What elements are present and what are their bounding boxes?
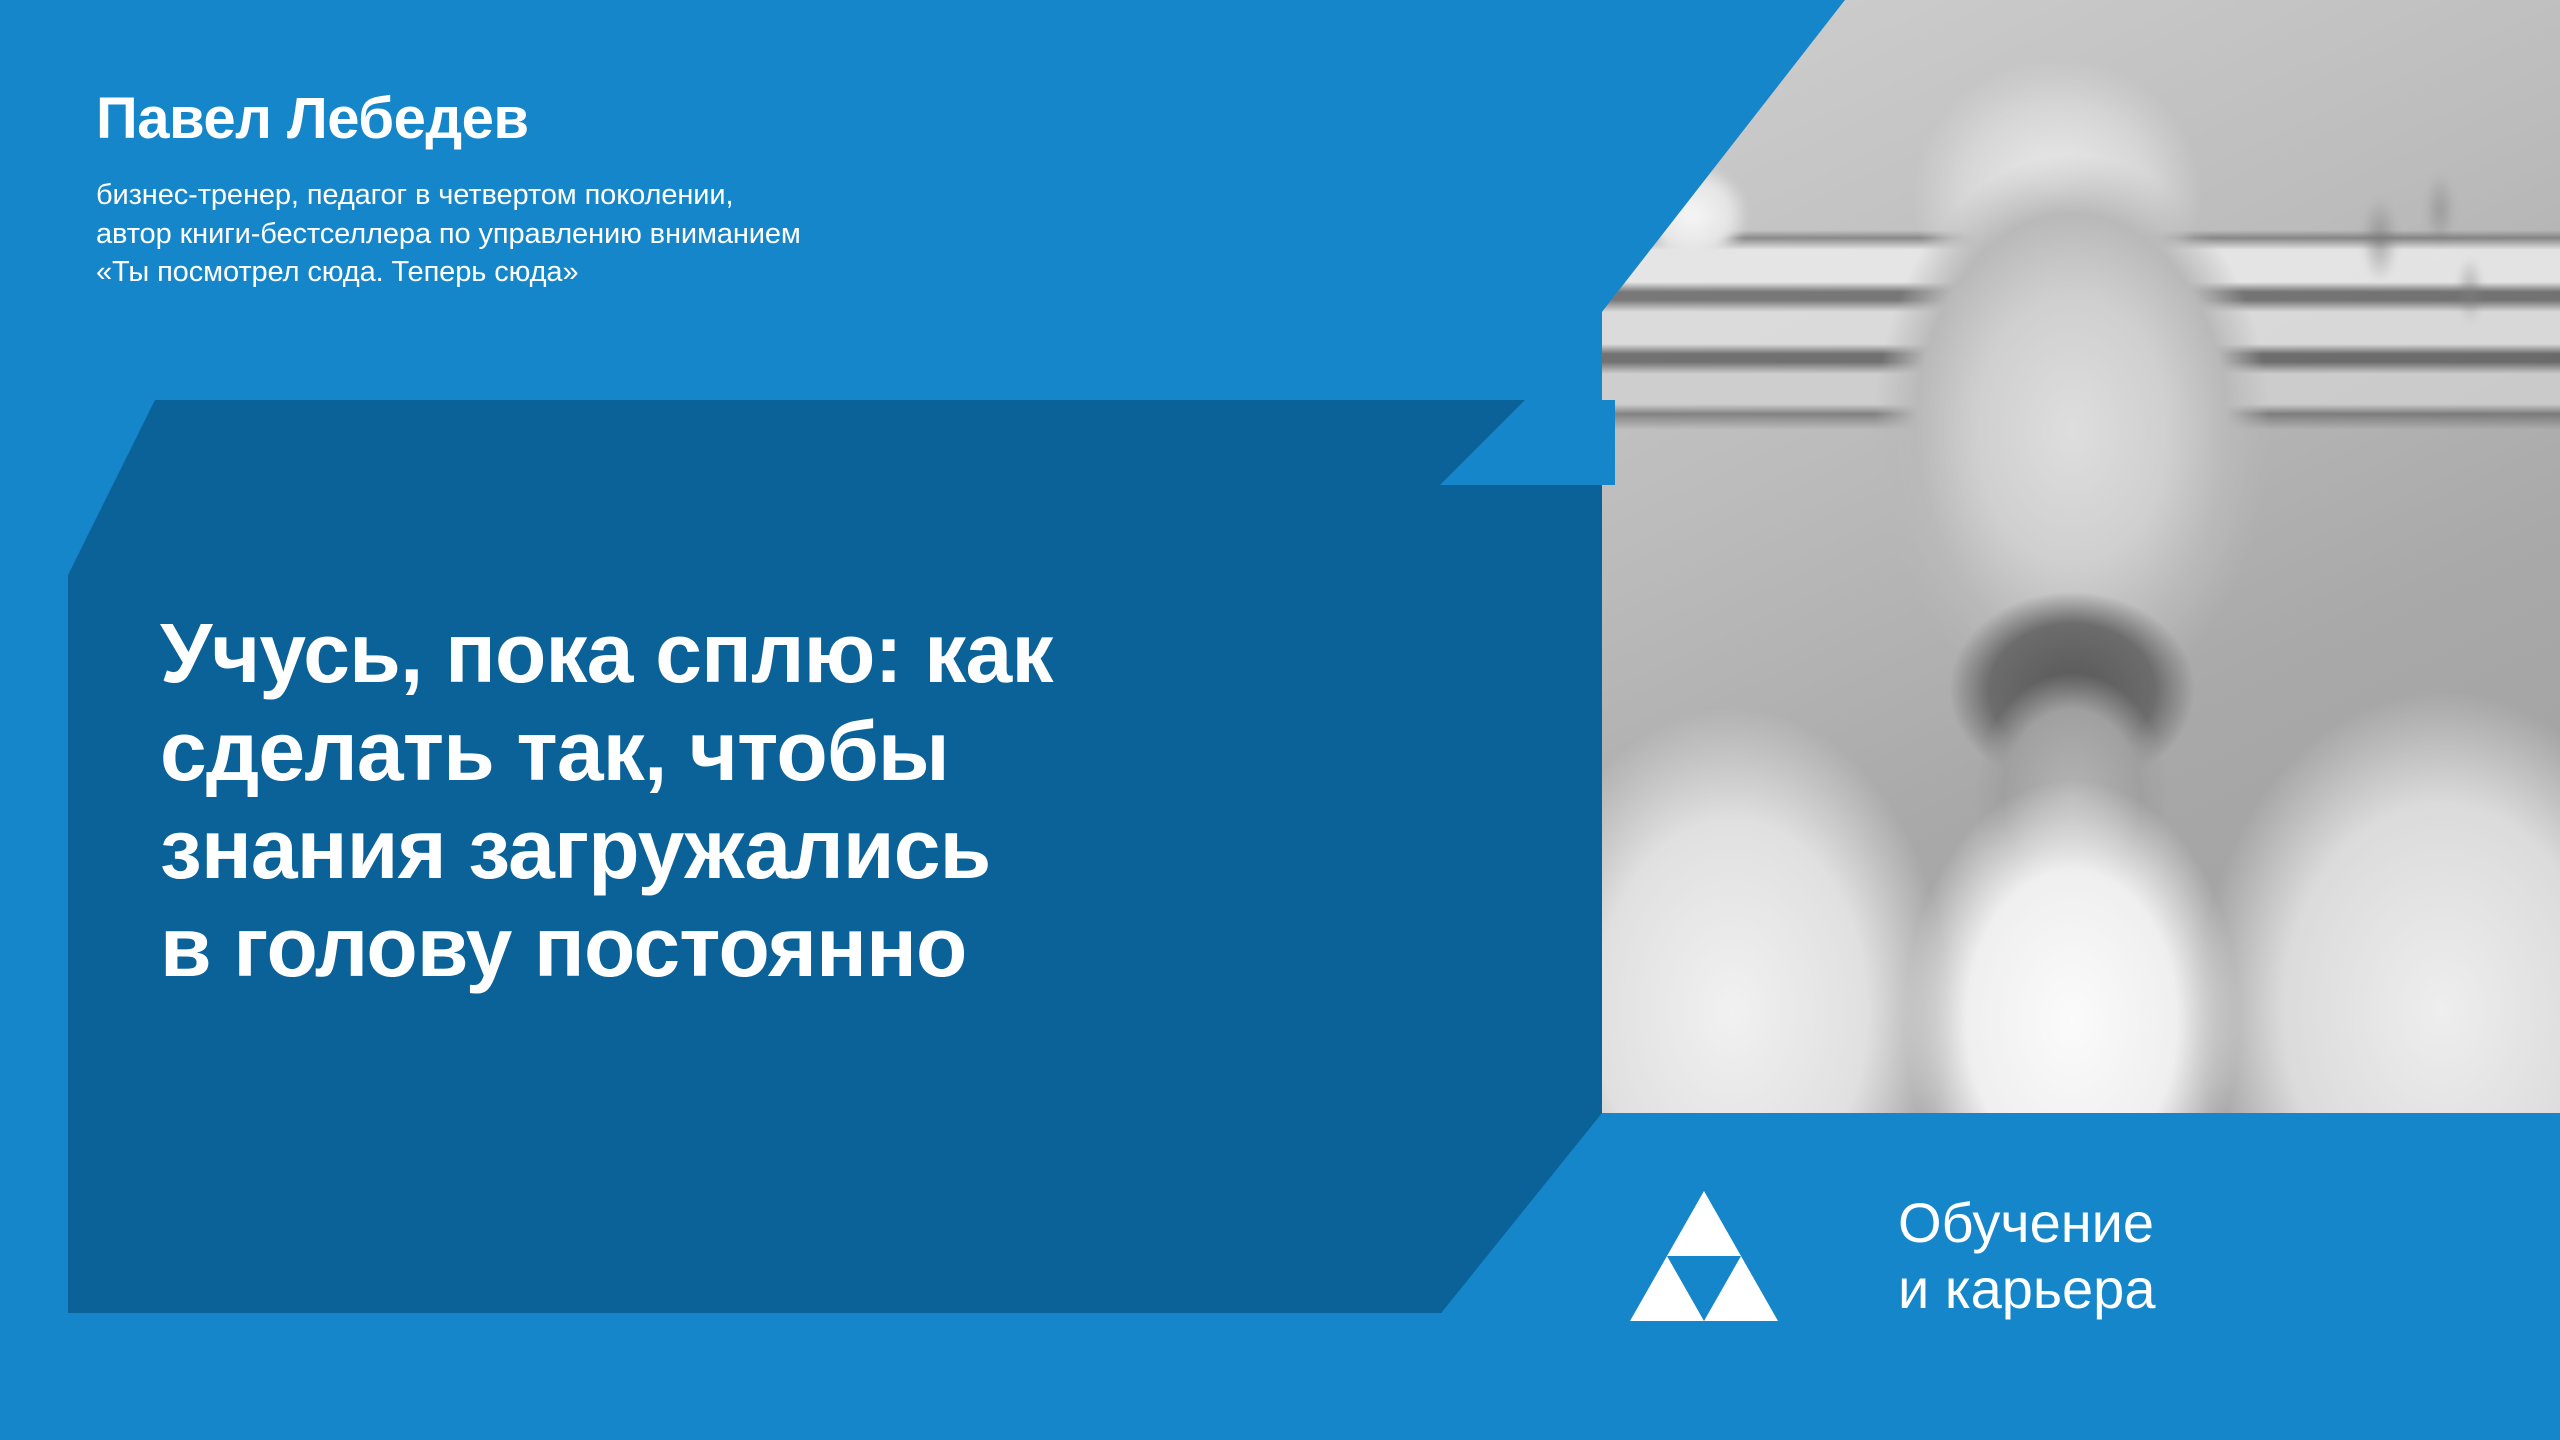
speaker-description: бизнес-тренер, педагог в четвертом покол… — [96, 176, 1396, 292]
headline-text: Учусь, пока сплю: как сделать так, чтобы… — [160, 605, 1540, 996]
speaker-photo-image — [1602, 0, 2560, 1113]
headline-line-3: знания загружались — [160, 801, 1540, 899]
headline-line-1: Учусь, пока сплю: как — [160, 605, 1540, 703]
brand-name-line-2: и карьера — [1898, 1256, 2155, 1322]
speaker-name: Павел Лебедев — [96, 90, 1396, 148]
background-plant-decor — [2320, 150, 2520, 410]
brand-name: Обучение и карьера — [1898, 1190, 2155, 1322]
slide-canvas: Павел Лебедев бизнес-тренер, педагог в ч… — [0, 0, 2560, 1440]
brand-name-line-1: Обучение — [1898, 1190, 2155, 1256]
speaker-info: Павел Лебедев бизнес-тренер, педагог в ч… — [96, 90, 1396, 292]
background-vase-decor — [1622, 150, 1762, 280]
headline-line-2: сделать так, чтобы — [160, 703, 1540, 801]
brand-lockup: Обучение и карьера — [1630, 1190, 2155, 1322]
speaker-description-line-2: автор книги-бестселлера по управлению вн… — [96, 215, 1396, 254]
sierpinski-triangle-icon — [1630, 1191, 1778, 1321]
speaker-description-line-3: «Ты посмотрел сюда. Теперь сюда» — [96, 253, 1396, 292]
speaker-description-line-1: бизнес-тренер, педагог в четвертом покол… — [96, 176, 1396, 215]
speaker-photo — [1602, 0, 2560, 1113]
headline-line-4: в голову постоянно — [160, 899, 1540, 997]
